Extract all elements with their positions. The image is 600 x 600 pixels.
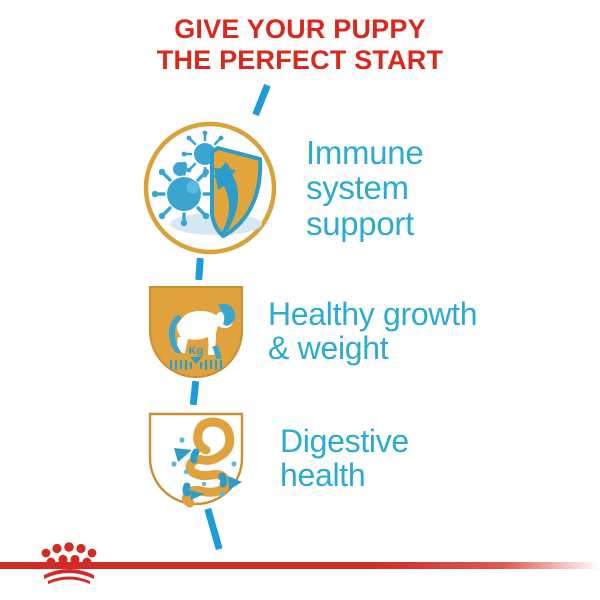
headline-line-2: THE PERFECT START: [0, 45, 600, 76]
headline-line-1: GIVE YOUR PUPPY: [0, 14, 600, 45]
stomach-digestive-icon: [140, 402, 252, 514]
feature-item-digestive: Digestive health: [140, 402, 409, 514]
dog-weighing-scale-icon: Kg: [140, 275, 252, 387]
page-title: GIVE YOUR PUPPY THE PERFECT START: [0, 14, 600, 77]
feature-label-digestive: Digestive health: [280, 424, 409, 492]
feature-label-immune: Immune system support: [306, 135, 423, 241]
connector-dash-3: [204, 508, 222, 550]
immune-shield-virus-icon: [140, 118, 280, 258]
royal-canin-crown-logo: [38, 541, 100, 585]
feature-label-growth: Healthy growth & weight: [268, 297, 477, 365]
feature-item-immune: Immune system support: [140, 118, 423, 258]
promo-card: GIVE YOUR PUPPY THE PERFECT START: [0, 0, 600, 600]
connector-dash-0: [252, 84, 270, 116]
feature-item-growth: Kg Healthy growth & weight: [140, 275, 477, 387]
icon-kg-label: Kg: [189, 345, 204, 357]
